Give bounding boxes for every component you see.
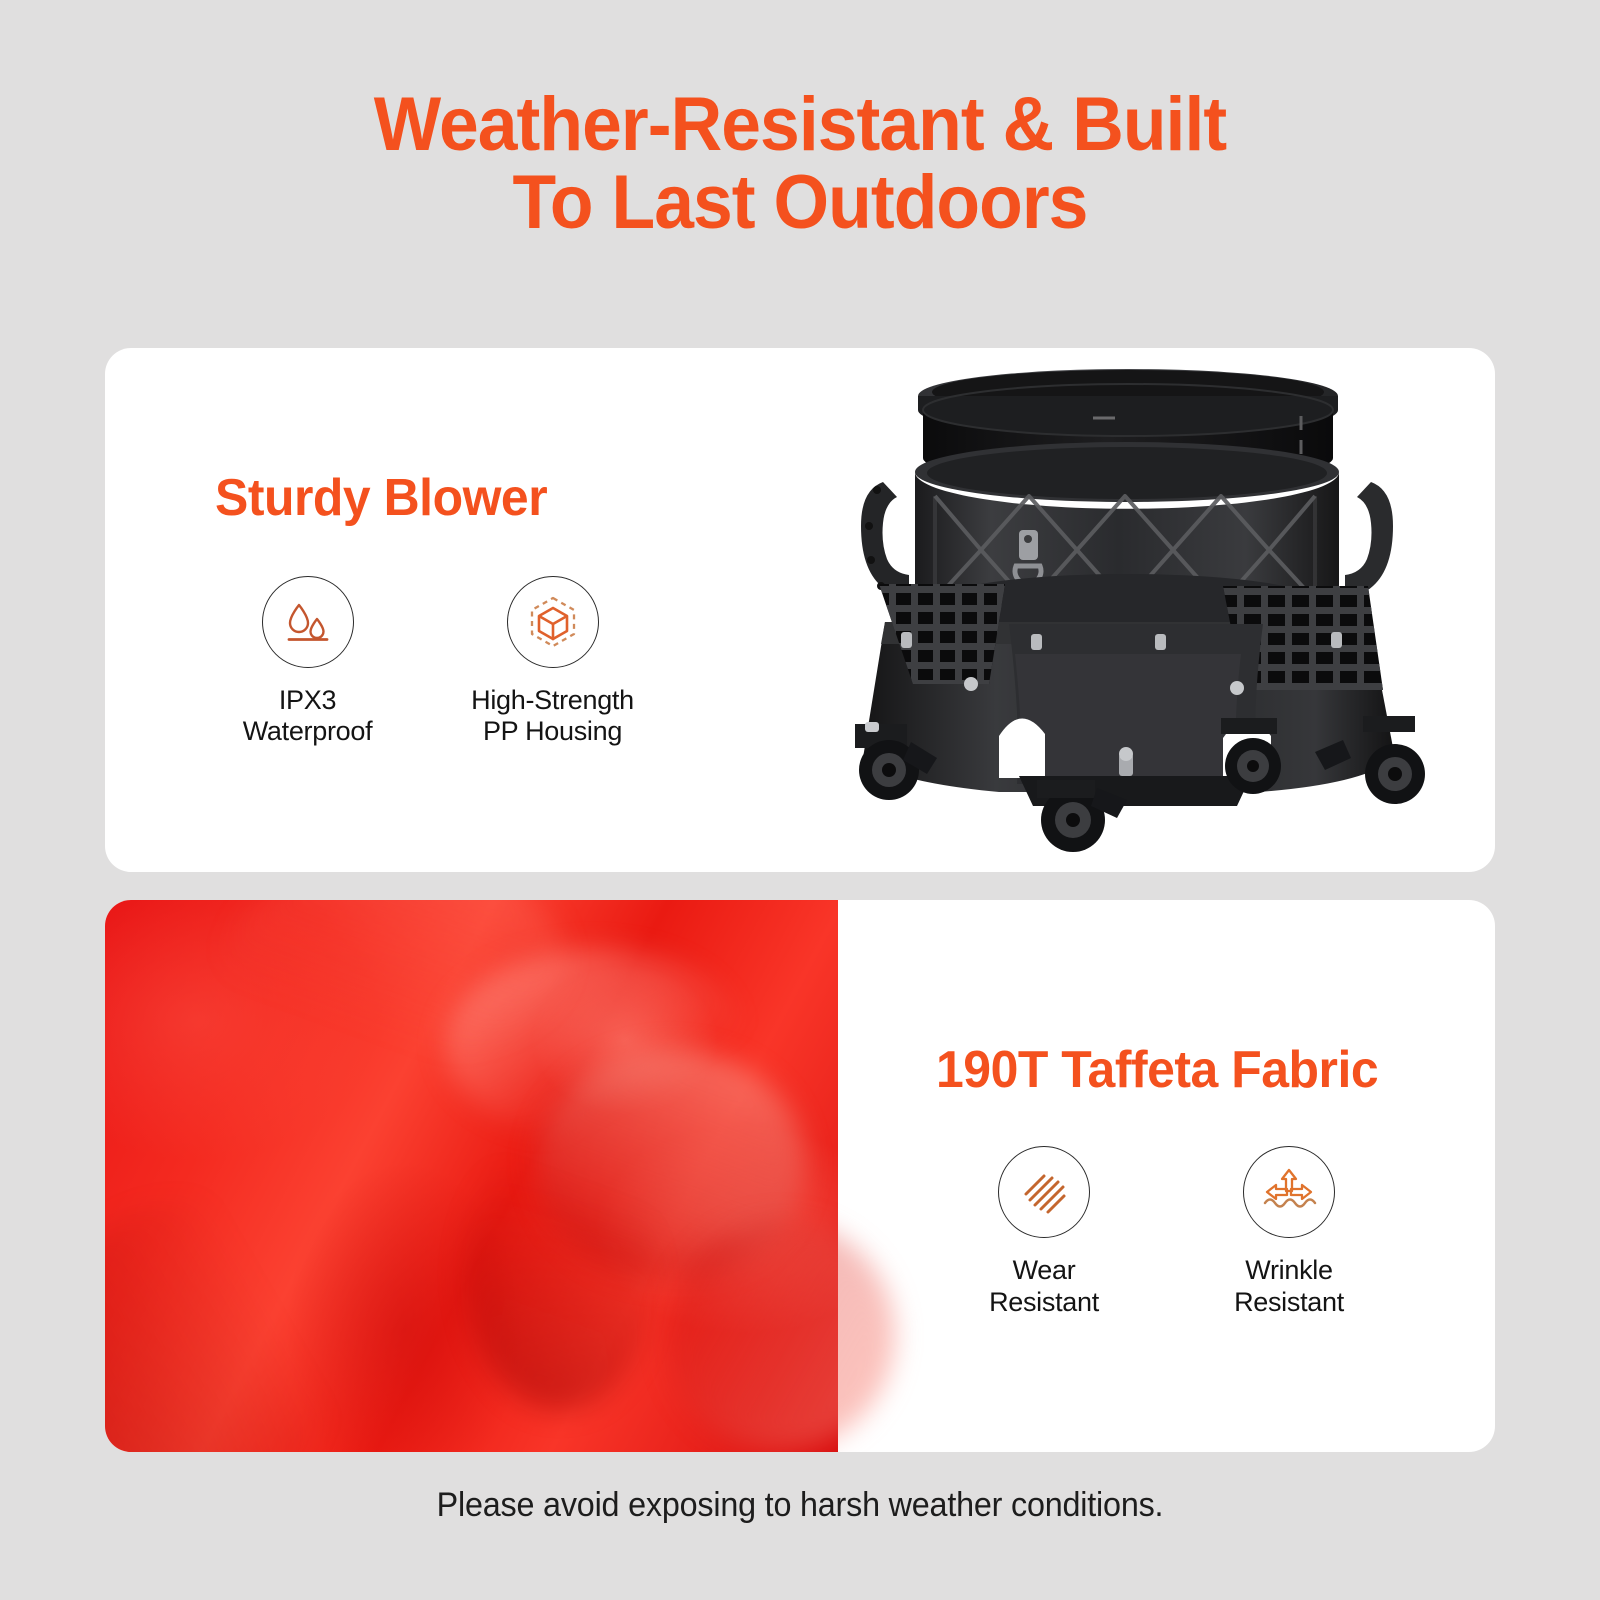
spec-label: IPX3 Waterproof [243, 685, 373, 748]
spec-label: Wear Resistant [989, 1255, 1099, 1318]
spec-ipx3-waterproof: IPX3 Waterproof [215, 576, 400, 748]
taffeta-fabric-spec-row: Wear Resistant Wrinkle Resistant [952, 1146, 1382, 1318]
water-drop-icon [262, 576, 354, 668]
taffeta-fabric-image [105, 900, 838, 1452]
feature-card-sturdy-blower: Sturdy Blower IPX3 Waterproof [105, 348, 1495, 872]
spec-wear-resistant: Wear Resistant [952, 1146, 1137, 1318]
spec-wrinkle-resistant: Wrinkle Resistant [1197, 1146, 1382, 1318]
page-title-line-2: To Last Outdoors [48, 164, 1552, 242]
taffeta-fabric-title: 190T Taffeta Fabric [936, 1040, 1378, 1100]
sturdy-blower-title: Sturdy Blower [215, 468, 753, 528]
arrows-wave-icon [1243, 1146, 1335, 1238]
spec-label: Wrinkle Resistant [1234, 1255, 1344, 1318]
fabric-fold [465, 1130, 655, 1410]
sturdy-blower-spec-row: IPX3 Waterproof High-Strength PP Housing [215, 576, 775, 748]
blower-product-image [823, 354, 1443, 866]
feature-card-taffeta-fabric: 190T Taffeta Fabric Wear Resistant [105, 900, 1495, 1452]
hexagon-cube-icon [507, 576, 599, 668]
sturdy-blower-text-block: Sturdy Blower IPX3 Waterproof [215, 468, 775, 748]
taffeta-fabric-text-block: 190T Taffeta Fabric Wear Resistant [838, 900, 1495, 1452]
fabric-fold [105, 1200, 345, 1452]
spec-label: High-Strength PP Housing [471, 685, 634, 748]
page-title-line-1: Weather-Resistant & Built [374, 82, 1226, 167]
footer-note: Please avoid exposing to harsh weather c… [40, 1486, 1560, 1525]
spec-high-strength-pp-housing: High-Strength PP Housing [460, 576, 645, 748]
scratch-lines-icon [998, 1146, 1090, 1238]
page-title: Weather-Resistant & Built To Last Outdoo… [48, 86, 1552, 243]
